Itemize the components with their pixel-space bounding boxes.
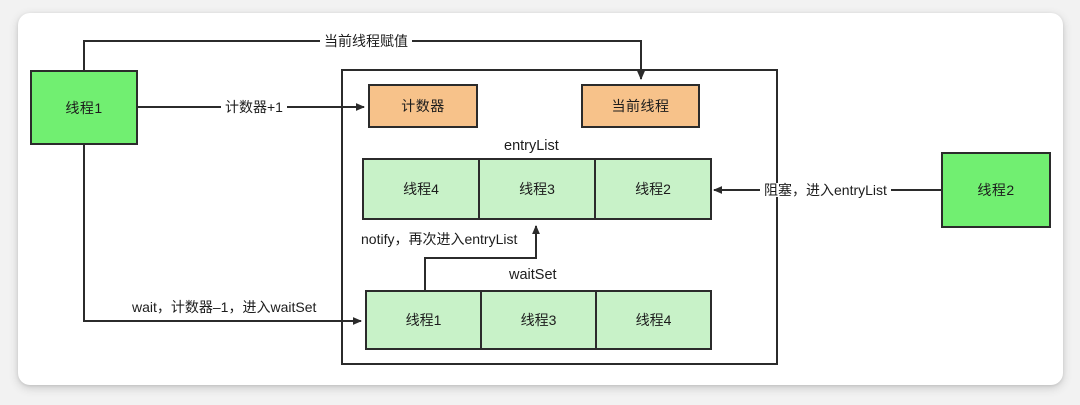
current-thread-box[interactable]: 当前线程 — [581, 84, 700, 128]
waitset-cell-1[interactable]: 线程3 — [482, 292, 597, 348]
thread1-label: 线程1 — [65, 101, 102, 115]
entrylist-caption: entryList — [504, 139, 559, 154]
entrylist-cell-2-label: 线程2 — [635, 179, 671, 199]
waitset-cell-1-label: 线程3 — [521, 310, 557, 330]
waitset-caption: waitSet — [509, 268, 557, 283]
edge-label-assign-current-thread: 当前线程赋值 — [320, 34, 412, 48]
diagram-canvas: 线程1 计数器 当前线程 线程2 entryList 线程4 线程3 线程2 w… — [0, 0, 1080, 405]
current-thread-label: 当前线程 — [612, 99, 670, 113]
waitset-cell-0-label: 线程1 — [406, 310, 442, 330]
edge-label-wait-decrement: wait，计数器–1，进入waitSet — [128, 300, 320, 314]
waitset-row: 线程1 线程3 线程4 — [365, 290, 712, 350]
counter-label: 计数器 — [401, 99, 445, 113]
waitset-cell-2-label: 线程4 — [636, 310, 672, 330]
entrylist-cell-1-label: 线程3 — [519, 179, 555, 199]
thread2-outside-label: 线程2 — [977, 183, 1014, 197]
thread1-box[interactable]: 线程1 — [30, 70, 138, 145]
edge-label-block-enter-entrylist: 阻塞，进入entryList — [760, 183, 891, 197]
edge-label-counter-increment: 计数器+1 — [221, 100, 287, 114]
entrylist-cell-1[interactable]: 线程3 — [480, 160, 596, 218]
entrylist-cell-0-label: 线程4 — [403, 179, 439, 199]
waitset-cell-0[interactable]: 线程1 — [367, 292, 482, 348]
entrylist-cell-2[interactable]: 线程2 — [596, 160, 710, 218]
thread2-outside-box[interactable]: 线程2 — [941, 152, 1051, 228]
entrylist-row: 线程4 线程3 线程2 — [362, 158, 712, 220]
waitset-cell-2[interactable]: 线程4 — [597, 292, 710, 348]
entrylist-cell-0[interactable]: 线程4 — [364, 160, 480, 218]
edge-label-notify-reenter-entrylist: notify，再次进入entryList — [357, 232, 521, 246]
counter-box[interactable]: 计数器 — [368, 84, 478, 128]
